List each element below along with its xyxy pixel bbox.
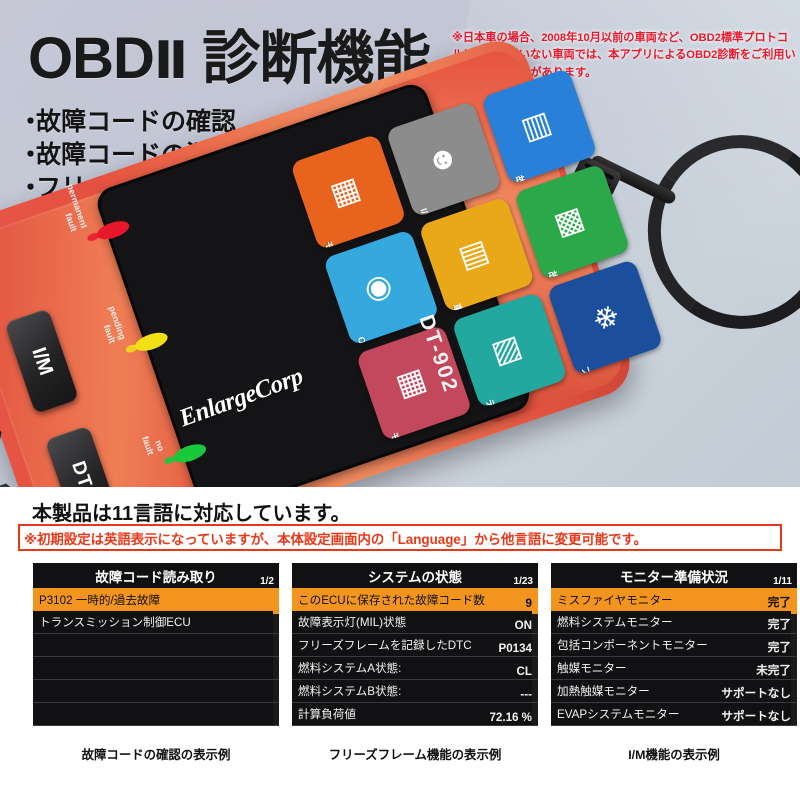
panel-caption: I/M機能の表示例 — [551, 745, 797, 763]
example-screens: 故障コード読み取り 1/2 P3102 一時的/過去故障 トランスミッション制御… — [0, 563, 800, 743]
led-label: pendingfault — [90, 289, 127, 345]
menu-tile-mode6[interactable]: ▦ モード6 — [290, 134, 407, 251]
panel-title: モニター準備状況 — [620, 566, 728, 586]
cable-loop — [633, 120, 800, 343]
panel-page-indicator: 1/11 — [773, 576, 792, 587]
list-icon: ▧ — [490, 331, 529, 369]
row-label: 故障表示灯(MIL)状態 — [298, 614, 406, 630]
panel-caption: フリーズフレーム機能の表示例 — [292, 745, 538, 763]
table-row[interactable] — [33, 634, 279, 657]
table-row[interactable]: このECUに保存された故障コード数 9 — [292, 588, 538, 611]
row-value: ON — [515, 619, 532, 633]
table-row[interactable]: フリーズフレームを記録したDTC P0134 — [292, 634, 538, 657]
panel-header: システムの状態 1/23 — [292, 563, 538, 588]
product-infographic: OBDⅡ 診断機能 ※日本車の場合、2008年10月以前の車両など、OBD2標準… — [0, 0, 800, 800]
panel-rows: P3102 一時的/過去故障 トランスミッション制御ECU — [33, 588, 279, 726]
row-label: トランスミッション制御ECU — [39, 614, 191, 630]
panel-header: 故障コード読み取り 1/2 — [33, 563, 279, 588]
row-value: CL — [517, 665, 532, 679]
product-device: ▦ モード6 ☻ I/M ▤ 故障読取 ◉ O — [55, 105, 705, 487]
bullet-dot-icon: ・ — [18, 106, 36, 139]
dtc-button-label: DTC — [66, 459, 100, 487]
table-row[interactable]: 加熱触媒モニター サポートなし — [551, 680, 797, 703]
panel-header: モニター準備状況 1/11 — [551, 563, 797, 588]
row-value: 72.16 % — [489, 711, 532, 725]
panel-rows: ミスファイヤモニター 完了 燃料システムモニター 完了 包括コンポーネントモニタ… — [551, 588, 797, 726]
panel-title: システムの状態 — [368, 566, 462, 586]
oxygen-sensor-icon: ◉ — [362, 270, 400, 306]
document-icon: ▥ — [457, 236, 496, 274]
table-row[interactable]: 燃料システムモニター 完了 — [551, 611, 797, 634]
menu-tile-label: 故障消去 — [546, 269, 572, 281]
panel-caption: 故障コードの確認の表示例 — [33, 745, 279, 763]
led-lamp-icon — [171, 441, 208, 466]
row-value: P0134 — [498, 642, 532, 656]
table-row[interactable]: ミスファイヤモニター 完了 — [551, 588, 797, 611]
table-row[interactable] — [33, 657, 279, 680]
row-value: サポートなし — [721, 685, 791, 702]
row-label: 計算負荷値 — [298, 706, 356, 722]
language-section: 本製品は11言語に対応しています。 ※初期設定は英語表示になっていますが、本体設… — [0, 487, 800, 800]
table-row[interactable]: 計算負荷値 72.16 % — [292, 703, 538, 726]
table-row[interactable]: EVAPシステムモニター サポートなし — [551, 703, 797, 726]
row-value: サポートなし — [721, 708, 791, 725]
table-row[interactable]: トランスミッション制御ECU — [33, 611, 279, 634]
row-value: 完了 — [768, 594, 791, 611]
table-row[interactable] — [33, 680, 279, 703]
menu-tile-label: O₂センサー — [355, 334, 384, 346]
row-label: P3102 一時的/過去故障 — [39, 592, 160, 608]
table-row[interactable]: 燃料システムA状態: CL — [292, 657, 538, 680]
table-row[interactable] — [33, 703, 279, 726]
table-row[interactable]: 触媒モニター 未完了 — [551, 657, 797, 680]
panel-page-indicator: 1/2 — [260, 576, 274, 587]
menu-tile-label: モード6 — [322, 239, 346, 251]
panel-title: 故障コード読み取り — [95, 566, 217, 586]
table-row[interactable]: 故障表示灯(MIL)状態 ON — [292, 611, 538, 634]
row-label: 燃料システムモニター — [557, 614, 673, 630]
inspector-icon: ☻ — [424, 139, 464, 180]
im-button-label: I/M — [26, 344, 57, 378]
hero-section: OBDⅡ 診断機能 ※日本車の場合、2008年10月以前の車両など、OBD2標準… — [0, 0, 800, 487]
table-row[interactable]: 包括コンポーネントモニター 完了 — [551, 634, 797, 657]
language-heading: 本製品は11言語に対応しています。 — [32, 497, 351, 526]
led-lamp-icon — [133, 329, 170, 354]
row-label: 燃料システムB状態: — [298, 683, 401, 699]
grid-icon: ▦ — [395, 364, 434, 402]
screen-example-dtc-read: 故障コード読み取り 1/2 P3102 一時的/過去故障 トランスミッション制御… — [33, 563, 279, 726]
snowflake-icon: ❄ — [586, 300, 624, 335]
car-scan-icon: ▤ — [520, 107, 559, 145]
row-label: フリーズフレームを記録したDTC — [298, 637, 472, 653]
row-label: 燃料システムA状態: — [298, 660, 401, 676]
panel-page-indicator: 1/23 — [514, 576, 533, 587]
led-label: nofault — [129, 400, 166, 456]
table-row[interactable]: P3102 一時的/過去故障 — [33, 588, 279, 611]
row-label: ミスファイヤモニター — [557, 592, 673, 608]
menu-tile-vehicle-info[interactable]: ▥ 車両情報 — [418, 196, 535, 313]
led-lamp-icon — [94, 218, 131, 243]
language-note: ※初期設定は英語表示になっていますが、本体設定画面内の「Language」から他… — [24, 528, 784, 548]
title-main: OBD — [28, 26, 154, 91]
row-label: このECUに保存された故障コード数 — [298, 592, 485, 608]
menu-tile-label: 故障読取 — [513, 173, 539, 185]
title-numeral: Ⅱ — [154, 32, 187, 90]
row-value: 完了 — [768, 639, 791, 656]
screen-example-im-readiness: モニター準備状況 1/11 ミスファイヤモニター 完了 燃料システムモニター 完… — [551, 563, 797, 726]
row-label: 包括コンポーネントモニター — [557, 637, 708, 653]
menu-tile-label: データリスト — [483, 397, 515, 409]
screen-example-freeze-frame: システムの状態 1/23 このECUに保存された故障コード数 9 故障表示灯(M… — [292, 563, 538, 726]
page-title: OBDⅡ 診断機能 — [28, 30, 430, 88]
row-label: 触媒モニター — [557, 660, 627, 676]
table-row[interactable]: 燃料システムB状態: --- — [292, 680, 538, 703]
row-label: EVAPシステムモニター — [557, 706, 679, 722]
row-label: 加熱触媒モニター — [557, 683, 650, 699]
erase-icon: ▩ — [553, 203, 592, 241]
row-value: 9 — [526, 597, 532, 611]
menu-tile-label: モード8 — [387, 430, 411, 442]
menu-tile-label: I/M — [417, 207, 432, 218]
grid-icon: ▦ — [329, 173, 368, 211]
row-value: --- — [520, 688, 532, 702]
panel-rows: このECUに保存された故障コード数 9 故障表示灯(MIL)状態 ON フリーズ… — [292, 588, 538, 726]
row-value: 完了 — [768, 616, 791, 633]
device-shell: ▦ モード6 ☻ I/M ▤ 故障読取 ◉ O — [0, 32, 639, 487]
row-value: 未完了 — [756, 662, 791, 679]
menu-tile-im-readiness[interactable]: ☻ I/M — [385, 101, 502, 218]
bullet-dot-icon: ・ — [18, 139, 36, 172]
menu-tile-label: 車両情報 — [450, 302, 476, 314]
